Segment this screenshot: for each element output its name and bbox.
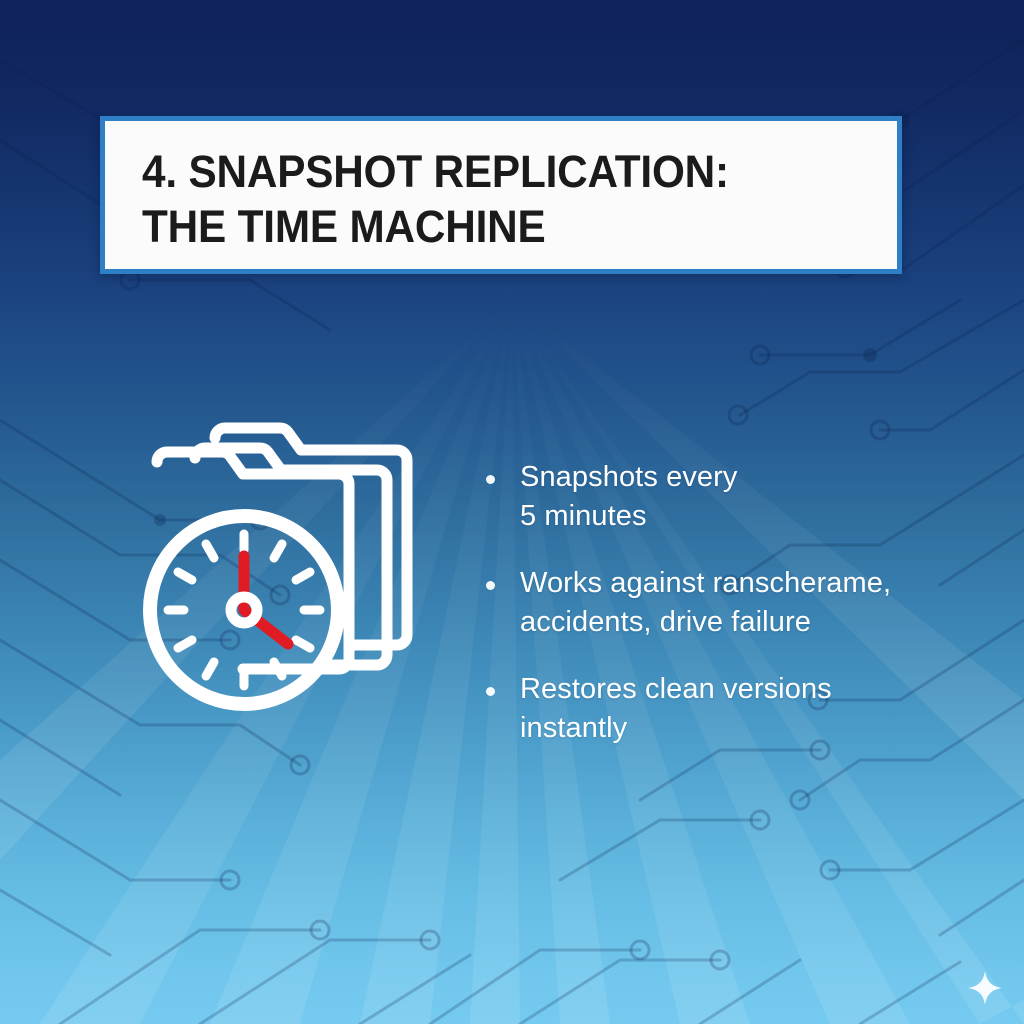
sparkle-star-icon: [966, 969, 1004, 1007]
bullet-dot-icon: [486, 687, 495, 696]
page-title: 4. SNAPSHOT REPLICATION: THE TIME MACHIN…: [142, 144, 839, 254]
list-item: Snapshots every 5 minutes: [486, 458, 956, 536]
list-item-label: Snapshots every 5 minutes: [520, 458, 738, 536]
folder-stack-clock-icon: [140, 396, 444, 732]
bullet-dot-icon: [486, 581, 495, 590]
list-item-label: Restores clean versions instantly: [520, 670, 832, 748]
title-card: 4. SNAPSHOT REPLICATION: THE TIME MACHIN…: [100, 116, 902, 274]
list-item: Works against ranscherame, accidents, dr…: [486, 564, 956, 642]
bullet-list: Snapshots every 5 minutes Works against …: [486, 458, 956, 748]
list-item-label: Works against ranscherame, accidents, dr…: [520, 564, 891, 642]
bullet-dot-icon: [486, 475, 495, 484]
slide-canvas: 4. SNAPSHOT REPLICATION: THE TIME MACHIN…: [0, 0, 1024, 1024]
list-item: Restores clean versions instantly: [486, 670, 956, 748]
